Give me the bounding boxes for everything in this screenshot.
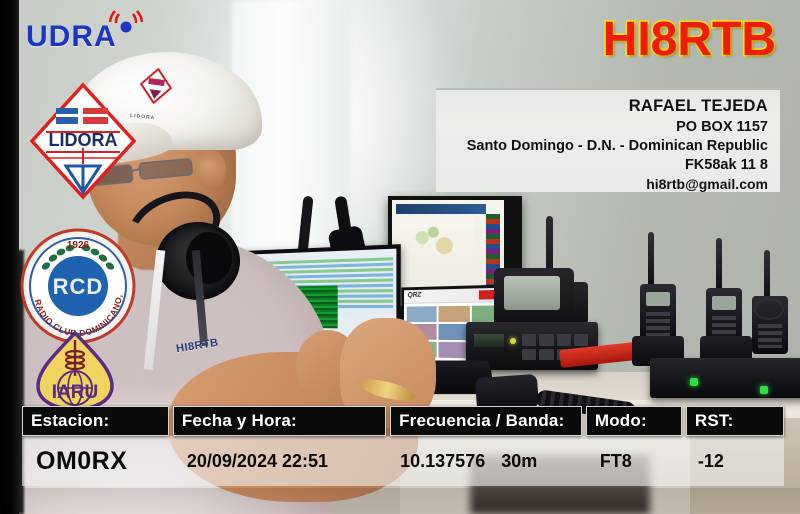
- svg-text:IARU: IARU: [52, 382, 98, 403]
- monitor-titlebar: [396, 204, 486, 214]
- callsign-heading: HI8RTB: [603, 12, 776, 67]
- ht-display: [712, 296, 736, 310]
- rig-display: [474, 334, 504, 347]
- rig-led: [510, 338, 516, 344]
- browser-bar: QRZ: [404, 288, 508, 304]
- email-address: hi8rtb@gmail.com: [436, 175, 768, 193]
- value-datetime: 20/09/2024 22:51: [173, 436, 386, 486]
- radio-wave-icon: [103, 8, 149, 34]
- header-modo: Modo:: [586, 406, 682, 436]
- value-station: OM0RX: [22, 436, 169, 486]
- header-rst: RST:: [686, 406, 784, 436]
- band-scope: [494, 268, 574, 326]
- value-rst: -12: [686, 436, 784, 486]
- table-value-row: OM0RX 20/09/2024 22:51 10.137576 30m FT8…: [22, 436, 784, 486]
- power-supply: [650, 358, 800, 398]
- value-band: 30m: [501, 451, 537, 472]
- power-led: [760, 386, 768, 394]
- city-country: Santo Domingo - D.N. - Dominican Republi…: [436, 137, 768, 156]
- ht-antenna: [648, 232, 654, 288]
- ht-display: [646, 292, 670, 306]
- value-frequency: 10.137576: [400, 451, 485, 472]
- svg-text:LIDORA: LIDORA: [49, 130, 118, 150]
- iaru-logo: IARU: [32, 330, 118, 412]
- scope-screen: [504, 276, 560, 310]
- rcd-logo: 1926 RCD RADIO CLUB DOMINICANO, INC.: [16, 226, 140, 346]
- qrz-label: QRZ: [408, 292, 422, 299]
- ht-speaker: [754, 298, 784, 320]
- address-panel: RAFAEL TEJEDA PO BOX 1157 Santo Domingo …: [436, 88, 780, 192]
- table-header-row: Estacion: Fecha y Hora: Frecuencia / Ban…: [22, 406, 784, 436]
- value-mode: FT8: [586, 436, 682, 486]
- ht-keypad: [758, 324, 782, 348]
- svg-text:1926: 1926: [67, 240, 90, 251]
- power-led: [690, 378, 698, 386]
- svg-text:RCD: RCD: [53, 274, 104, 299]
- handheld-radio: [752, 296, 788, 354]
- ht-antenna: [764, 250, 770, 300]
- ht-antenna: [716, 238, 722, 292]
- bottom-photo-strip: [0, 488, 800, 514]
- cap-lidora-logo: [138, 66, 175, 106]
- qso-log-table: Estacion: Fecha y Hora: Frecuencia / Ban…: [22, 406, 784, 486]
- grid-square: FK58ak 11 8: [436, 156, 768, 175]
- po-box: PO BOX 1157: [436, 118, 768, 137]
- operator-name: RAFAEL TEJEDA: [436, 96, 768, 118]
- ht-keypad: [646, 312, 670, 336]
- header-fecha-hora: Fecha y Hora:: [173, 406, 386, 436]
- handheld-radio: [640, 284, 676, 342]
- lidora-logo: LIDORA: [28, 82, 138, 200]
- header-estacion: Estacion:: [22, 406, 169, 436]
- header-frecuencia-banda: Frecuencia / Banda:: [390, 406, 582, 436]
- qsl-card: QRZ: [0, 0, 800, 514]
- propagation-map: [400, 216, 474, 270]
- value-frequency-band: 10.137576 30m: [390, 436, 582, 486]
